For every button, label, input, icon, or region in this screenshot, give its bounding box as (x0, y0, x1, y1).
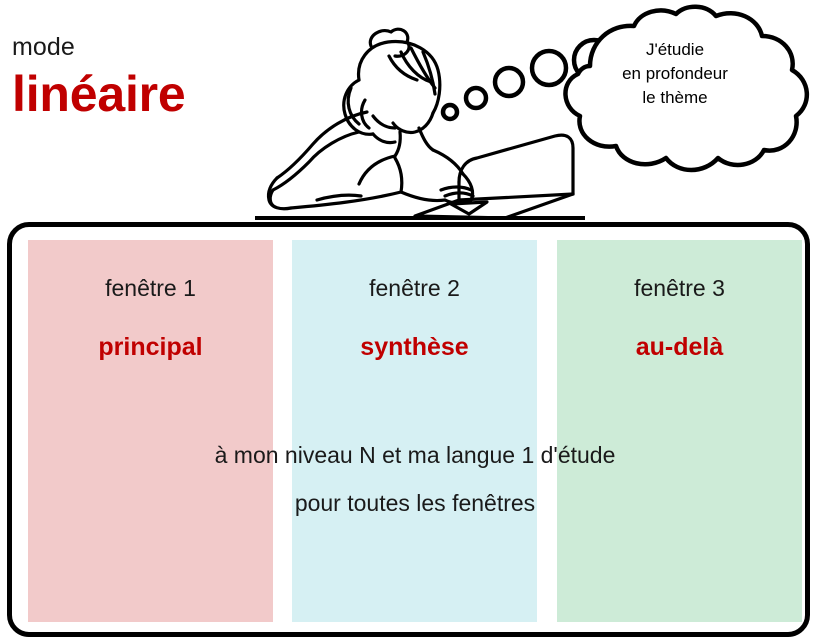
windows-panel-group: fenêtre 1 principal fenêtre 2 synthèse f… (28, 240, 802, 622)
thought-line-1: J'étudie (580, 38, 770, 62)
window-panel-2-name: synthèse (292, 333, 537, 362)
window-panel-1-title: fenêtre 1 (28, 275, 273, 302)
mode-value: linéaire (12, 66, 272, 122)
thought-bubble-text: J'étudie en profondeur le thème (580, 38, 770, 110)
window-panel-3-name: au-delà (557, 333, 802, 362)
window-panel-1-name: principal (28, 333, 273, 362)
thought-line-2: en profondeur (580, 62, 770, 86)
window-panel-3-title: fenêtre 3 (557, 275, 802, 302)
thought-line-3: le thème (580, 86, 770, 110)
window-panel-2[interactable]: fenêtre 2 synthèse (292, 240, 537, 622)
window-panel-1[interactable]: fenêtre 1 principal (28, 240, 273, 622)
window-panel-2-title: fenêtre 2 (292, 275, 537, 302)
mode-label: mode (12, 34, 272, 60)
page-title: mode linéaire (12, 34, 272, 122)
window-panel-3[interactable]: fenêtre 3 au-delà (557, 240, 802, 622)
